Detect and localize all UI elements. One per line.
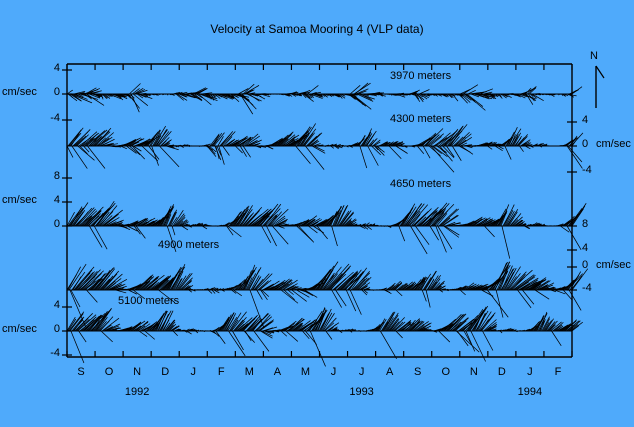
y-tick-label: -4: [582, 164, 612, 176]
month-tick-label: N: [464, 366, 484, 378]
stick-group: [67, 123, 583, 172]
y-tick-label: 4: [582, 242, 612, 254]
depth-series-label: 4300 meters: [390, 113, 451, 125]
stick-group: [67, 201, 586, 258]
y-unit-label: cm/sec: [2, 194, 37, 206]
depth-series-label: 5100 meters: [118, 295, 179, 307]
month-tick-label: O: [99, 366, 119, 378]
y-tick-label: 8: [30, 170, 60, 182]
north-label: N: [590, 50, 598, 62]
month-tick-label: J: [183, 366, 203, 378]
month-tick-label: J: [520, 366, 540, 378]
y-tick-label: -4: [582, 282, 612, 294]
y-tick-label: 8: [582, 218, 612, 230]
month-tick-label: M: [239, 366, 259, 378]
chart-page: Velocity at Samoa Mooring 4 (VLP data) 4…: [0, 0, 634, 427]
depth-series-label: 3970 meters: [390, 70, 451, 82]
y-tick-label: -4: [30, 112, 60, 124]
month-tick-label: F: [211, 366, 231, 378]
y-unit-label: cm/sec: [596, 259, 631, 271]
month-tick-label: O: [436, 366, 456, 378]
depth-series-label: 4900 meters: [158, 239, 219, 251]
month-tick-label: A: [267, 366, 287, 378]
month-tick-label: D: [492, 366, 512, 378]
month-tick-label: S: [71, 366, 91, 378]
month-tick-label: N: [127, 366, 147, 378]
month-tick-label: S: [408, 366, 428, 378]
month-tick-label: J: [324, 366, 344, 378]
y-tick-label: 4: [582, 114, 612, 126]
year-label: 1993: [344, 386, 380, 398]
y-tick-label: 0: [30, 218, 60, 230]
month-tick-label: F: [548, 366, 568, 378]
y-unit-label: cm/sec: [2, 323, 37, 335]
y-unit-label: cm/sec: [2, 86, 37, 98]
month-tick-label: D: [155, 366, 175, 378]
stick-group: [67, 83, 582, 114]
month-tick-label: J: [352, 366, 372, 378]
year-label: 1992: [119, 386, 155, 398]
y-unit-label: cm/sec: [596, 138, 631, 150]
stick-vector-plot: [0, 0, 634, 427]
year-label: 1994: [512, 386, 548, 398]
month-tick-label: A: [380, 366, 400, 378]
y-tick-label: -4: [30, 347, 60, 359]
month-tick-label: M: [295, 366, 315, 378]
y-tick-label: 4: [30, 62, 60, 74]
depth-series-label: 4650 meters: [390, 178, 451, 190]
y-tick-label: 4: [30, 299, 60, 311]
